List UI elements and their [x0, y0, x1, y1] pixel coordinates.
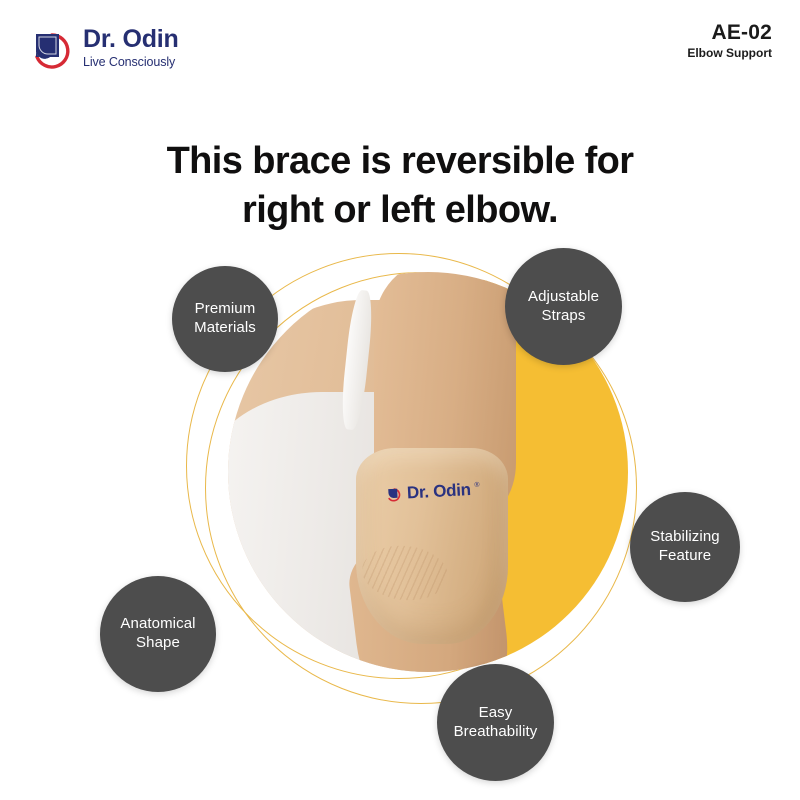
sleeve-ribbing: [359, 542, 450, 605]
feature-label-line-1: Premium: [188, 300, 262, 319]
sleeve-brand-logo: Dr. Odin ®: [386, 480, 481, 505]
sleeve-brand-text: Dr. Odin: [407, 480, 472, 503]
feature-label-line-2: Feature: [644, 547, 725, 566]
feature-bubble-anatomical-shape[interactable]: Anatomical Shape: [100, 576, 216, 692]
sleeve-registered-mark: ®: [474, 482, 480, 489]
feature-label-line-1: Stabilizing: [644, 528, 725, 547]
feature-bubble-stabilizing-feature[interactable]: Stabilizing Feature: [630, 492, 740, 602]
feature-bubble-easy-breathability[interactable]: Easy Breathability: [437, 664, 554, 781]
feature-label-line-1: Anatomical: [114, 615, 201, 634]
product-composition: Dr. Odin ® Premium Materials Adjustable …: [0, 0, 800, 800]
feature-label-line-2: Straps: [522, 307, 605, 326]
feature-label-line-2: Materials: [188, 319, 262, 338]
feature-bubble-adjustable-straps[interactable]: Adjustable Straps: [505, 248, 622, 365]
feature-label-line-1: Easy: [448, 704, 544, 723]
feature-bubble-premium-materials[interactable]: Premium Materials: [172, 266, 278, 372]
product-feature-poster: Dr. Odin Live Consciously AE-02 Elbow Su…: [0, 0, 800, 800]
elbow-support-sleeve: Dr. Odin ®: [356, 448, 508, 644]
sleeve-dr-odin-logo-icon: [386, 485, 404, 503]
feature-label-line-2: Breathability: [448, 723, 544, 742]
feature-label-line-1: Adjustable: [522, 288, 605, 307]
feature-label-line-2: Shape: [114, 634, 201, 653]
